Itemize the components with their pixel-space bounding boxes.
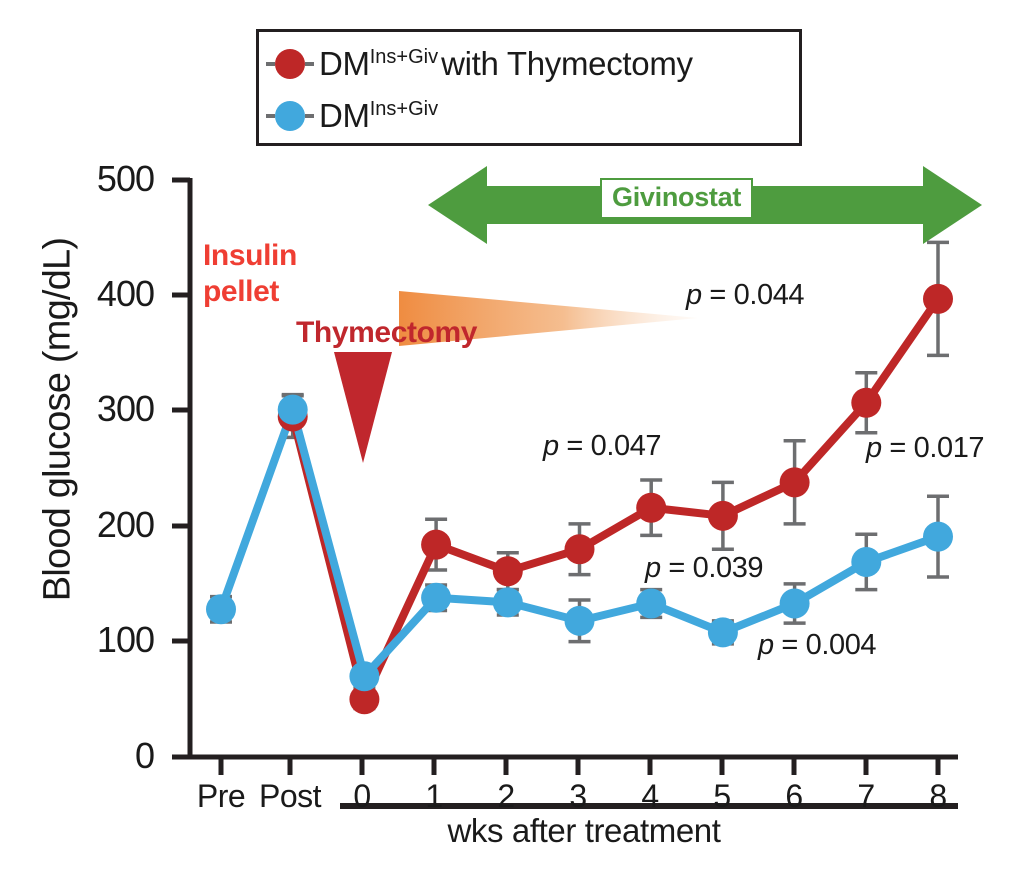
data-point[interactable] xyxy=(349,661,379,691)
data-point[interactable] xyxy=(421,583,451,613)
data-point[interactable] xyxy=(780,589,810,619)
insulin-line-2: pellet xyxy=(203,274,297,310)
y-tick-500: 500 xyxy=(34,158,154,200)
data-point[interactable] xyxy=(278,395,308,425)
x-tick-w3: 3 xyxy=(538,778,618,815)
data-point[interactable] xyxy=(636,589,666,619)
legend-marker-red xyxy=(275,49,305,79)
legend-label-thymectomy: DMIns+Givwith Thymectomy xyxy=(319,45,693,83)
data-point[interactable] xyxy=(708,617,738,647)
x-tick-w4: 4 xyxy=(610,778,690,815)
data-point[interactable] xyxy=(565,606,595,636)
y-tick-0: 0 xyxy=(34,735,154,777)
y-axis-ticks xyxy=(172,180,190,757)
x-tick-w2: 2 xyxy=(466,778,546,815)
figure-root: DMIns+Givwith Thymectomy DMIns+Giv 500 4… xyxy=(0,0,1024,880)
p-value-annotation: p = 0.017 xyxy=(866,432,984,465)
x-tick-pre: Pre xyxy=(181,778,261,815)
legend-item-control[interactable]: DMIns+Giv xyxy=(259,90,799,142)
data-point[interactable] xyxy=(851,547,881,577)
givinostat-label: Givinostat xyxy=(600,178,753,219)
chart-legend: DMIns+Givwith Thymectomy DMIns+Giv xyxy=(256,29,802,146)
x-tick-w5: 5 xyxy=(682,778,762,815)
data-point[interactable] xyxy=(923,522,953,552)
legend-item-thymectomy[interactable]: DMIns+Givwith Thymectomy xyxy=(259,38,799,90)
data-point[interactable] xyxy=(636,493,666,523)
data-point[interactable] xyxy=(923,284,953,314)
data-point[interactable] xyxy=(851,388,881,418)
insulin-line-1: Insulin xyxy=(203,238,297,274)
thymectomy-pointer-icon xyxy=(334,352,392,463)
p-value-annotation: p = 0.044 xyxy=(686,279,804,312)
data-point[interactable] xyxy=(493,556,523,586)
x-axis-label: wks after treatment xyxy=(404,812,764,850)
legend-marker-blue xyxy=(275,101,305,131)
x-tick-w6: 6 xyxy=(754,778,834,815)
x-tick-w1: 1 xyxy=(394,778,474,815)
p-value-annotation: p = 0.047 xyxy=(543,430,661,463)
x-axis-ticks xyxy=(221,757,938,775)
p-value-annotation: p = 0.004 xyxy=(758,629,876,662)
x-tick-w7: 7 xyxy=(826,778,906,815)
data-point[interactable] xyxy=(565,534,595,564)
legend-label-control: DMIns+Giv xyxy=(319,97,438,135)
thymectomy-annotation: Thymectomy xyxy=(296,316,477,350)
insulin-pellet-annotation: Insulin pellet xyxy=(203,238,297,310)
x-tick-post: Post xyxy=(250,778,330,815)
data-point[interactable] xyxy=(206,594,236,624)
p-value-annotation: p = 0.039 xyxy=(645,552,763,585)
data-point[interactable] xyxy=(421,530,451,560)
x-tick-w0: 0 xyxy=(322,778,402,815)
data-point[interactable] xyxy=(493,587,523,617)
data-point[interactable] xyxy=(708,501,738,531)
data-point[interactable] xyxy=(780,467,810,497)
x-tick-w8: 8 xyxy=(898,778,978,815)
y-axis-label: Blood glucose (mg/dL) xyxy=(37,210,80,630)
